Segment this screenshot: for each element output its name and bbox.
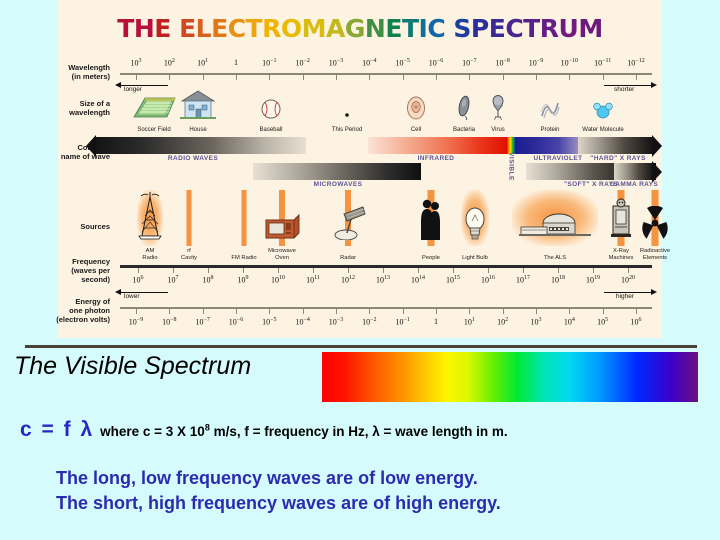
energy-axis-labels: 10−910−810−710−610−510−410−310−210−11101… xyxy=(58,317,662,329)
frequency-tick-label: 1019 xyxy=(586,275,600,285)
energy-axis-ticks xyxy=(58,309,662,315)
wavelength-tick-label: 1 xyxy=(234,58,238,67)
wavelength-tick-mark xyxy=(636,75,637,80)
frequency-tick-label: 1017 xyxy=(516,275,530,285)
energy-tick-label: 10−5 xyxy=(262,317,276,327)
frequency-tick-mark xyxy=(453,268,454,273)
baseball-icon xyxy=(260,98,282,125)
wavelength-tick-label: 10−2 xyxy=(295,58,309,68)
energy-tick-label: 101 xyxy=(464,317,475,327)
wavelength-tick-label: 102 xyxy=(164,58,175,68)
fm-radio-icon xyxy=(241,206,247,245)
wave-equation: c = f λwhere c = 3 X 108 m/s, f = freque… xyxy=(20,418,508,442)
wavelength-tick-mark xyxy=(536,75,537,80)
wave-band xyxy=(253,163,421,180)
title-letter: S xyxy=(453,14,471,43)
frequency-tick-mark xyxy=(418,268,419,273)
title-letter: E xyxy=(489,14,506,43)
microwave-oven-icon xyxy=(263,212,301,245)
frequency-tick-mark xyxy=(348,268,349,273)
title-letter: E xyxy=(154,14,171,43)
visible-spectrum-gradient-bar xyxy=(322,352,698,402)
energy-tick-label: 103 xyxy=(531,317,542,327)
wave-band-bar xyxy=(95,137,306,154)
virus-icon xyxy=(491,95,506,125)
source-label: rfCavity xyxy=(181,248,197,261)
frequency-tick-mark xyxy=(313,268,314,273)
energy-tick-mark xyxy=(203,309,204,314)
radar-dish-icon xyxy=(330,202,366,245)
wavelength-tick-mark xyxy=(469,75,470,80)
title-letter xyxy=(171,14,179,43)
wavelength-axis-labels: 103102101110−110−210−310−410−510−610−710… xyxy=(58,58,662,70)
size-comparison-label: Soccer Field xyxy=(137,127,170,134)
wave-band-label: VISIBLE xyxy=(508,152,515,181)
frequency-tick-label: 1011 xyxy=(306,275,320,285)
title-letter: T xyxy=(246,14,263,43)
energy-tick-label: 10−7 xyxy=(195,317,209,327)
title-letter: M xyxy=(302,14,326,43)
frequency-tick-mark xyxy=(208,268,209,273)
frequency-tick-label: 109 xyxy=(238,275,249,285)
frequency-tick-mark xyxy=(278,268,279,273)
frequency-axis-labels: 1061071081091010101110121013101410151016… xyxy=(58,275,662,287)
frequency-tick-label: 1013 xyxy=(376,275,390,285)
wave-band-bar xyxy=(614,163,653,180)
frequency-tick-mark xyxy=(243,268,244,273)
band-arrow-right-icon xyxy=(652,135,662,157)
energy-tick-label: 102 xyxy=(497,317,508,327)
energy-tick-mark xyxy=(136,309,137,314)
wavelength-tick-mark xyxy=(336,75,337,80)
wavelength-tick-label: 10−11 xyxy=(594,58,611,68)
wavelength-tick-mark xyxy=(236,75,237,80)
light-bulb-icon xyxy=(464,206,486,245)
title-letter: A xyxy=(326,14,345,43)
energy-tick-mark xyxy=(603,309,604,314)
source-label: MicrowaveOven xyxy=(268,248,296,261)
wavelength-tick-mark xyxy=(569,75,570,80)
energy-tick-label: 10−4 xyxy=(295,317,309,327)
title-letter xyxy=(445,14,453,43)
source-label-line: Radar xyxy=(340,255,356,262)
wavelength-tick-mark xyxy=(403,75,404,80)
source-label-line: Oven xyxy=(268,255,296,262)
source-label: AMRadio xyxy=(142,248,157,261)
equation-symbol: c = f λ xyxy=(20,418,94,441)
water-molecule-icon xyxy=(592,102,614,125)
wavelength-tick-mark xyxy=(136,75,137,80)
energy-tick-mark xyxy=(369,309,370,314)
radio-tower-icon xyxy=(135,192,165,245)
energy-tick-label: 10−2 xyxy=(362,317,376,327)
source-label-line: Machines xyxy=(609,255,634,262)
energy-tick-mark xyxy=(536,309,537,314)
cell-icon xyxy=(405,96,427,125)
title-letter: O xyxy=(281,14,302,43)
energy-tick-label: 10−3 xyxy=(329,317,343,327)
source-label: X-RayMachines xyxy=(609,248,634,261)
frequency-tick-mark xyxy=(383,268,384,273)
radioactive-icon xyxy=(642,206,668,245)
wave-band-label: INFRARED xyxy=(418,155,455,162)
source-label: RadioactiveElements xyxy=(640,248,670,261)
energy-tick-mark xyxy=(269,309,270,314)
frequency-tick-label: 1020 xyxy=(621,275,635,285)
period-dot-icon xyxy=(342,107,352,125)
wave-band-bar xyxy=(578,137,653,154)
source-label: The ALS xyxy=(544,255,566,262)
size-comparison-label: Bacteria xyxy=(453,127,475,134)
title-letter: C xyxy=(228,14,246,43)
frequency-tick-label: 1015 xyxy=(446,275,460,285)
wave-band-bar xyxy=(253,163,421,180)
frequency-tick-label: 1012 xyxy=(341,275,355,285)
energy-tick-mark xyxy=(503,309,504,314)
title-letter: I xyxy=(419,14,428,43)
frequency-tick-mark xyxy=(523,268,524,273)
wavelength-tick-mark xyxy=(303,75,304,80)
title-letter: L xyxy=(196,14,211,43)
title-letter: T xyxy=(117,14,134,43)
wavelength-tick-mark xyxy=(269,75,270,80)
source-label-line: Elements xyxy=(640,255,670,262)
wavelength-tick-mark xyxy=(436,75,437,80)
frequency-tick-mark xyxy=(558,268,559,273)
wavelength-tick-label: 103 xyxy=(131,58,142,68)
size-comparison-label: House xyxy=(189,127,206,134)
band-arrow-left-icon xyxy=(86,135,96,157)
energy-tick-label: 10−6 xyxy=(229,317,243,327)
wave-band xyxy=(578,137,662,154)
title-letter: T xyxy=(402,14,419,43)
frequency-tick-label: 108 xyxy=(203,275,214,285)
section-divider xyxy=(25,345,697,348)
size-comparison-row: Soccer FieldHouseBaseballThis PeriodCell… xyxy=(58,92,662,134)
frequency-tick-label: 1016 xyxy=(481,275,495,285)
wavelength-tick-mark xyxy=(369,75,370,80)
source-label-line: Radioactive xyxy=(640,248,670,255)
title-letter: U xyxy=(559,14,579,43)
band-arrow-right-icon xyxy=(652,161,662,183)
frequency-tick-label: 1010 xyxy=(271,275,285,285)
protein-icon xyxy=(539,98,561,125)
wavelength-tick-mark xyxy=(603,75,604,80)
energy-tick-label: 106 xyxy=(631,317,642,327)
size-comparison-label: Cell xyxy=(411,127,421,134)
wave-band-bar xyxy=(368,137,507,154)
source-label-line: Radio xyxy=(142,255,157,262)
frequency-tick-mark xyxy=(628,268,629,273)
frequency-tick-mark xyxy=(173,268,174,273)
source-label: Radar xyxy=(340,255,356,262)
wavelength-tick-label: 10−1 xyxy=(262,58,276,68)
wave-band-label: "HARD" X RAYS xyxy=(590,155,646,162)
energy-tick-mark xyxy=(169,309,170,314)
people-icon xyxy=(419,198,443,245)
size-comparison-label: Virus xyxy=(491,127,505,134)
wavelength-tick-label: 10−9 xyxy=(529,58,543,68)
visible-spectrum-heading: The Visible Spectrum xyxy=(14,352,251,381)
xray-machine-icon xyxy=(609,198,633,245)
energy-tick-mark xyxy=(569,309,570,314)
title-letter: T xyxy=(523,14,540,43)
size-comparison-label: This Period xyxy=(332,127,362,134)
wavelength-tick-label: 101 xyxy=(197,58,208,68)
frequency-tick-label: 1014 xyxy=(411,275,425,285)
summary-line-low-energy: The long, low frequency waves are of low… xyxy=(56,468,478,489)
wavelength-tick-mark xyxy=(169,75,170,80)
wavelength-tick-mark xyxy=(203,75,204,80)
wavelength-tick-label: 10−7 xyxy=(462,58,476,68)
title-letter: R xyxy=(540,14,559,43)
wave-band-label: ULTRAVIOLET xyxy=(534,155,583,162)
frequency-tick-mark xyxy=(488,268,489,273)
wave-band-label: GAMMA RAYS xyxy=(610,181,658,188)
title-letter: E xyxy=(211,14,228,43)
size-comparison-label: Water Molecule xyxy=(582,127,623,134)
wave-band-label: RADIO WAVES xyxy=(168,155,218,162)
wavelength-tick-label: 10−8 xyxy=(495,58,509,68)
source-label-line: FM Radio xyxy=(231,255,256,262)
energy-tick-label: 10−1 xyxy=(395,317,409,327)
title-letter: P xyxy=(471,14,489,43)
wavelength-tick-label: 10−12 xyxy=(627,58,644,68)
wave-band xyxy=(86,137,306,154)
size-comparison-label: Baseball xyxy=(259,127,282,134)
frequency-tick-mark xyxy=(138,268,139,273)
source-label-line: Cavity xyxy=(181,255,197,262)
source-label-line: People xyxy=(422,255,440,262)
energy-tick-mark xyxy=(303,309,304,314)
title-letter: E xyxy=(385,14,402,43)
title-letter: C xyxy=(505,14,523,43)
size-comparison-label: Protein xyxy=(540,127,559,134)
energy-tick-mark xyxy=(336,309,337,314)
wave-band-label: MICROWAVES xyxy=(314,181,363,188)
als-building-icon xyxy=(519,210,591,245)
source-label: FM Radio xyxy=(231,255,256,262)
frequency-tick-label: 106 xyxy=(133,275,144,285)
title-letter: E xyxy=(179,14,196,43)
source-label-line: Microwave xyxy=(268,248,296,255)
source-label: People xyxy=(422,255,440,262)
energy-tick-mark xyxy=(403,309,404,314)
energy-tick-mark xyxy=(236,309,237,314)
equation-description: where c = 3 X 108 m/s, f = frequency in … xyxy=(100,424,508,439)
wavelength-tick-mark xyxy=(503,75,504,80)
energy-tick-mark xyxy=(469,309,470,314)
frequency-tick-label: 1018 xyxy=(551,275,565,285)
frequency-tick-label: 107 xyxy=(168,275,179,285)
wave-band xyxy=(614,163,662,180)
house-icon xyxy=(178,88,218,125)
wavelength-tick-label: 10−3 xyxy=(329,58,343,68)
wave-band xyxy=(368,137,507,154)
title-letter: N xyxy=(365,14,385,43)
wave-band-row: RADIO WAVESMICROWAVESINFRAREDVISIBLEULTR… xyxy=(58,137,662,187)
wavelength-tick-label: 10−5 xyxy=(395,58,409,68)
frequency-axis-ticks xyxy=(58,268,662,274)
title-letter: G xyxy=(345,14,365,43)
sources-row: AMRadiorfCavityFM RadioMicrowaveOvenRada… xyxy=(58,190,662,260)
title-letter: M xyxy=(578,14,602,43)
energy-tick-label: 10−9 xyxy=(129,317,143,327)
energy-tick-label: 105 xyxy=(597,317,608,327)
electromagnetic-spectrum-chart: THE ELECTROMAGNETIC SPECTRUM Wavelength … xyxy=(58,0,662,338)
energy-tick-mark xyxy=(436,309,437,314)
energy-tick-label: 1 xyxy=(434,317,438,326)
source-label: Light Bulb xyxy=(462,255,488,262)
rf-cavity-icon xyxy=(186,206,192,245)
energy-tick-label: 104 xyxy=(564,317,575,327)
title-letter: C xyxy=(427,14,445,43)
energy-tick-label: 10−8 xyxy=(162,317,176,327)
source-label-line: The ALS xyxy=(544,255,566,262)
wavelength-tick-label: 10−4 xyxy=(362,58,376,68)
bacteria-icon xyxy=(456,94,472,125)
energy-tick-mark xyxy=(636,309,637,314)
summary-line-high-energy: The short, high frequency waves are of h… xyxy=(56,493,501,514)
title-letter: H xyxy=(134,14,154,43)
frequency-tick-mark xyxy=(593,268,594,273)
title-letter: R xyxy=(262,14,281,43)
wavelength-axis-ticks xyxy=(58,75,662,81)
wavelength-tick-label: 10−10 xyxy=(561,58,578,68)
chart-title: THE ELECTROMAGNETIC SPECTRUM xyxy=(58,14,662,43)
source-label-line: Light Bulb xyxy=(462,255,488,262)
soccer-field-icon xyxy=(131,94,177,125)
wavelength-tick-label: 10−6 xyxy=(429,58,443,68)
